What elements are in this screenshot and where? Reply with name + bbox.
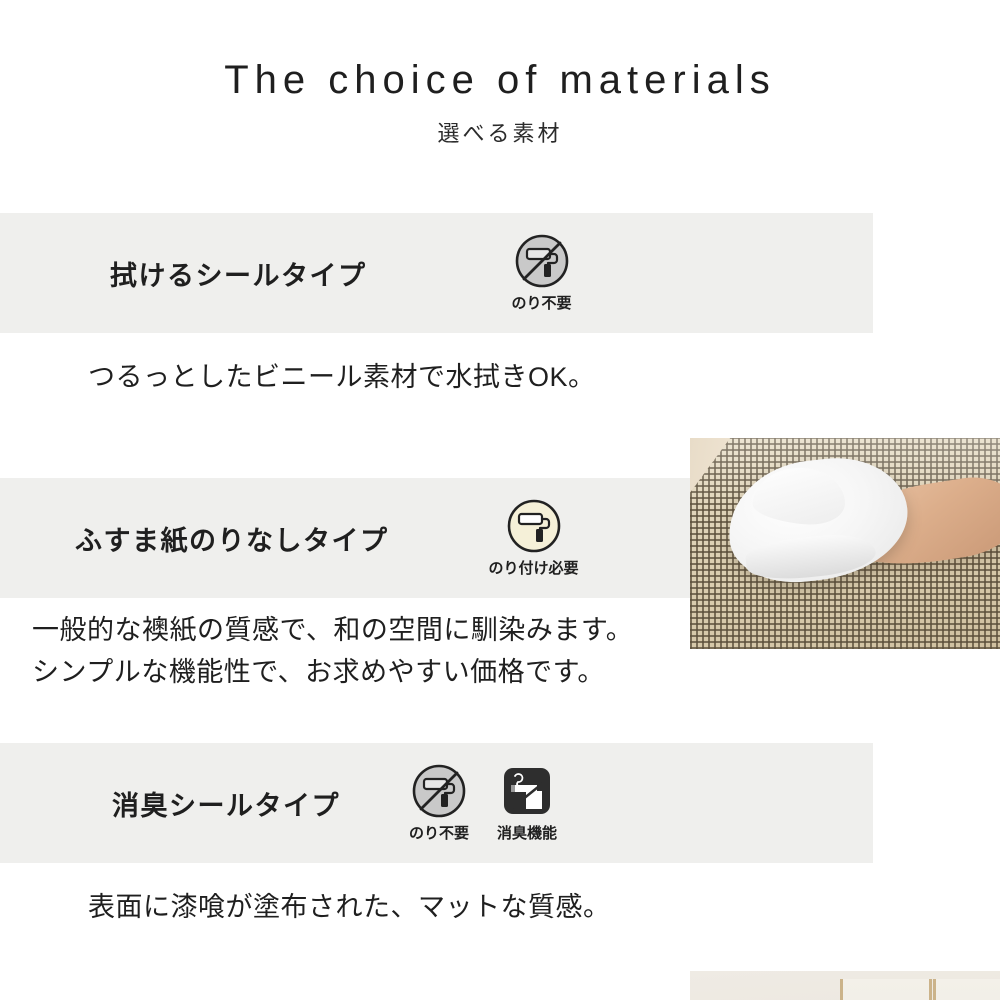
badge-deodorizing: 消臭機能 <box>490 763 564 843</box>
photo-content <box>690 971 1000 1000</box>
description-line: シンプルな機能性で、お求めやすい価格です。 <box>32 652 690 694</box>
photo-content <box>690 438 1000 649</box>
badge-no-glue: のり不要 <box>402 763 476 843</box>
section-badges: のり付け必要 <box>497 498 571 578</box>
badge-no-glue: のり不要 <box>505 233 579 313</box>
badge-label: のり不要 <box>511 292 571 313</box>
page-title-en: The choice of materials <box>0 56 1000 104</box>
glue-required-roller-icon <box>506 498 562 554</box>
badge-label: 消臭機能 <box>497 822 557 843</box>
badge-label: のり不要 <box>409 822 469 843</box>
badge-glue-required: のり付け必要 <box>497 498 571 578</box>
deodorizing-function-icon <box>499 763 555 819</box>
hand-wiping-woven-mat-photo <box>690 438 1000 649</box>
section-description: 一般的な襖紙の質感で、和の空間に馴染みます。 シンプルな機能性で、お求めやすい価… <box>0 598 690 694</box>
section-badges: のり不要 消臭機能 <box>402 763 564 843</box>
section-heading: 拭けるシールタイプ <box>110 254 367 293</box>
fusuma-panel <box>840 979 932 1000</box>
section-label-band: 消臭シールタイプ のり不要 <box>0 743 873 863</box>
section-label-band: 拭けるシールタイプ のり不要 <box>0 213 873 333</box>
description-line: 一般的な襖紙の質感で、和の空間に馴染みます。 <box>32 610 690 652</box>
fusuma-panel <box>933 979 1000 1000</box>
page-subtitle-ja: 選べる素材 <box>0 116 1000 148</box>
no-glue-roller-icon <box>411 763 467 819</box>
page-header: The choice of materials 選べる素材 <box>0 0 1000 148</box>
japanese-interior-room-photo <box>690 971 1000 1000</box>
section-heading: 消臭シールタイプ <box>112 784 340 823</box>
section-badges: のり不要 <box>505 233 579 313</box>
section-description: 表面に漆喰が塗布された、マットな質感。 <box>0 863 690 929</box>
description-line: つるっとしたビニール素材で水拭きOK。 <box>88 357 690 399</box>
badge-label: のり付け必要 <box>489 557 579 578</box>
section-heading: ふすま紙のりなしタイプ <box>75 519 389 558</box>
no-glue-roller-icon <box>514 233 570 289</box>
section-description: つるっとしたビニール素材で水拭きOK。 <box>0 333 690 399</box>
description-line: 表面に漆喰が塗布された、マットな質感。 <box>88 887 690 929</box>
